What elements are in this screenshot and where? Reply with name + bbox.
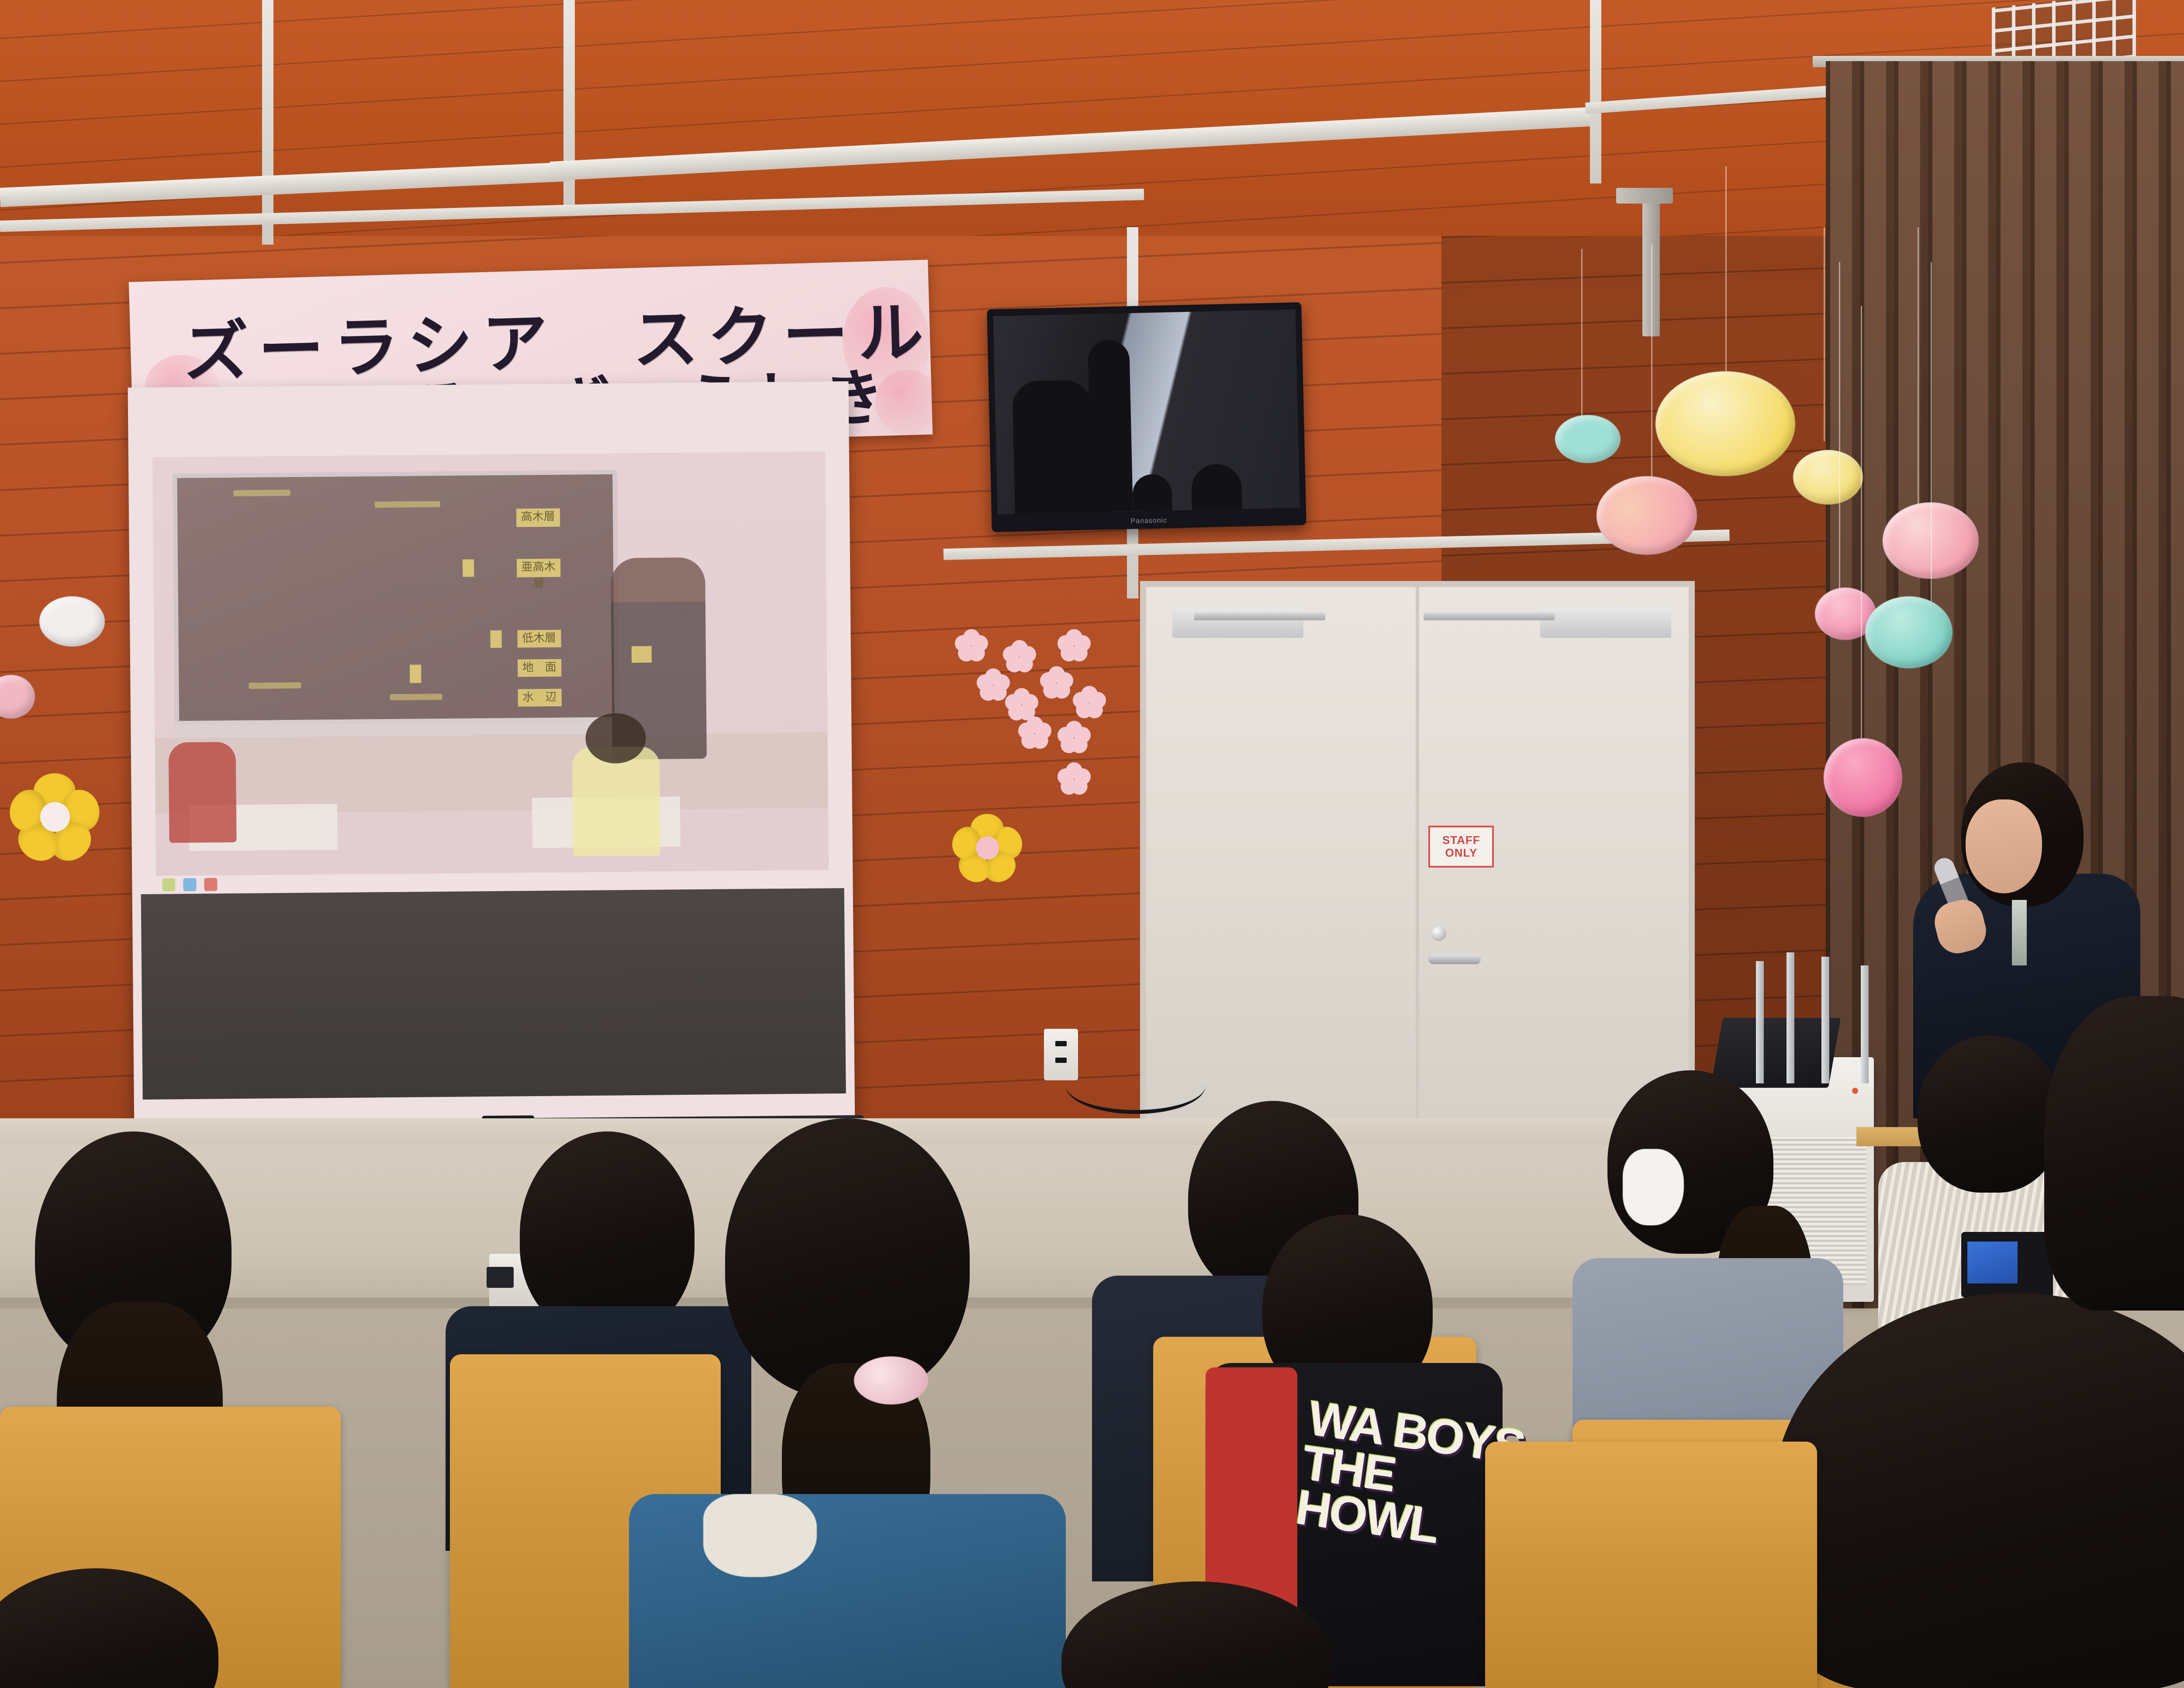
door-arm-left bbox=[1194, 612, 1325, 620]
projected-image: 高木層 亜高木層 低木層 地 面 水 辺 bbox=[152, 451, 829, 876]
sakura-flower-10 bbox=[1057, 762, 1091, 796]
ceiling-beam-vertical-3 bbox=[1590, 0, 1601, 183]
projected-card-4: 水 辺 bbox=[518, 688, 561, 706]
power-cord bbox=[1066, 1057, 1206, 1114]
pompom-mint-1 bbox=[1555, 415, 1621, 463]
projected-card-1: 亜高木層 bbox=[517, 559, 560, 578]
door-lock-cylinder[interactable] bbox=[1431, 926, 1446, 941]
projected-card-loose-1 bbox=[463, 559, 474, 577]
projected-card-3: 地 面 bbox=[518, 659, 561, 677]
start-orb-icon bbox=[162, 878, 175, 891]
equipment-rod-4 bbox=[1861, 965, 1869, 1083]
pompom-mint-right bbox=[1865, 596, 1952, 668]
pompom-string-6 bbox=[1861, 306, 1862, 743]
equipment-rod-1 bbox=[1756, 961, 1764, 1083]
pompom-string-8 bbox=[1931, 262, 1932, 607]
scarf-3 bbox=[703, 1494, 817, 1577]
projected-chalk-4 bbox=[390, 694, 442, 700]
pompom-string-7 bbox=[1918, 227, 1919, 511]
ceiling-beam-vertical-1 bbox=[262, 0, 273, 245]
pompom-yellow-small bbox=[1793, 450, 1863, 505]
staff-only-sign: STAFF ONLY bbox=[1428, 826, 1494, 868]
pompom-white-left bbox=[39, 596, 105, 647]
pompom-string-1 bbox=[1581, 249, 1583, 424]
projected-chalk-3 bbox=[249, 682, 301, 689]
tv-silhouette-1 bbox=[1012, 380, 1094, 515]
hair-tie-beads bbox=[854, 1356, 928, 1404]
aircon-power-led bbox=[1852, 1088, 1858, 1094]
door-closer-left bbox=[1172, 607, 1303, 638]
tv-screen bbox=[993, 309, 1300, 515]
equipment-rod-2 bbox=[1787, 952, 1794, 1083]
door-arm-right bbox=[1424, 612, 1555, 620]
audience-head-7 bbox=[1918, 1035, 2062, 1193]
sakura-flower-8 bbox=[1018, 716, 1052, 751]
projected-student-red bbox=[168, 742, 236, 843]
staff-sign-line2: ONLY bbox=[1445, 847, 1477, 859]
internet-explorer-icon bbox=[183, 878, 196, 891]
projected-chalk-1 bbox=[233, 490, 290, 496]
pompom-string-3 bbox=[1725, 166, 1727, 380]
tv-silhouette-2 bbox=[1088, 339, 1133, 515]
pompom-yellow-large bbox=[1655, 371, 1795, 476]
sakura-flower-9 bbox=[1057, 721, 1091, 755]
door-closer-right bbox=[1540, 607, 1671, 638]
yellow-flower-center bbox=[948, 814, 1026, 886]
projection-screen: 高木層 亜高木層 低木層 地 面 水 辺 bbox=[128, 381, 855, 1139]
tv-silhouette-3 bbox=[1132, 474, 1172, 515]
sakura-flower-1 bbox=[954, 629, 988, 663]
chair-8[interactable] bbox=[1485, 1442, 1817, 1688]
presenter-lanyard bbox=[2012, 900, 2027, 965]
double-door-frame: STAFF ONLY bbox=[1140, 581, 1695, 1149]
face-mask bbox=[1623, 1149, 1684, 1225]
staff-sign-line1: STAFF bbox=[1442, 834, 1480, 847]
projected-classroom-wall bbox=[155, 732, 828, 813]
pompom-string-4 bbox=[1824, 227, 1825, 441]
projected-card-0: 高木層 bbox=[516, 508, 560, 527]
downpipe-elbow bbox=[1616, 188, 1673, 204]
presenter-face bbox=[1966, 799, 2042, 893]
media-app-icon bbox=[204, 878, 217, 891]
door-lever-handle[interactable] bbox=[1428, 955, 1481, 964]
projected-held-card bbox=[632, 646, 652, 662]
tv-silhouette-4 bbox=[1191, 464, 1242, 515]
wall-tv: Panasonic bbox=[987, 302, 1306, 532]
case-clip-left bbox=[487, 1267, 514, 1288]
handheld-camera[interactable] bbox=[1961, 1232, 2053, 1297]
projected-card-loose-2 bbox=[490, 630, 501, 648]
projected-card-loose-3 bbox=[410, 664, 421, 683]
sakura-flower-7 bbox=[1072, 686, 1106, 720]
sakura-flower-5 bbox=[1040, 666, 1074, 700]
sakura-flower-3 bbox=[1057, 629, 1091, 663]
pompom-pink-peach-1 bbox=[1597, 476, 1697, 555]
pompom-pink-bottom bbox=[1824, 738, 1902, 817]
screen-lower-dark-area bbox=[141, 888, 846, 1100]
yellow-flower-left bbox=[4, 773, 105, 865]
audience-body-3 bbox=[629, 1494, 1066, 1688]
camera-lcd-screen bbox=[1967, 1242, 2018, 1283]
pompom-string-2 bbox=[1651, 245, 1652, 498]
flower-center bbox=[40, 802, 70, 832]
pompom-string-5 bbox=[1839, 262, 1840, 590]
outlet-socket-top bbox=[1055, 1041, 1067, 1046]
audience-head-3 bbox=[725, 1118, 970, 1398]
projected-chalk-2 bbox=[375, 501, 440, 508]
flower-center bbox=[976, 837, 999, 860]
projected-card-2: 低木層 bbox=[517, 630, 561, 648]
photo-scene: ズーラシア スクール そつぎょうしき 高木層 亜高木層 低木層 地 面 水 辺 bbox=[0, 0, 2184, 1688]
outlet-socket-bottom bbox=[1055, 1058, 1067, 1063]
equipment-rod-3 bbox=[1821, 957, 1829, 1083]
